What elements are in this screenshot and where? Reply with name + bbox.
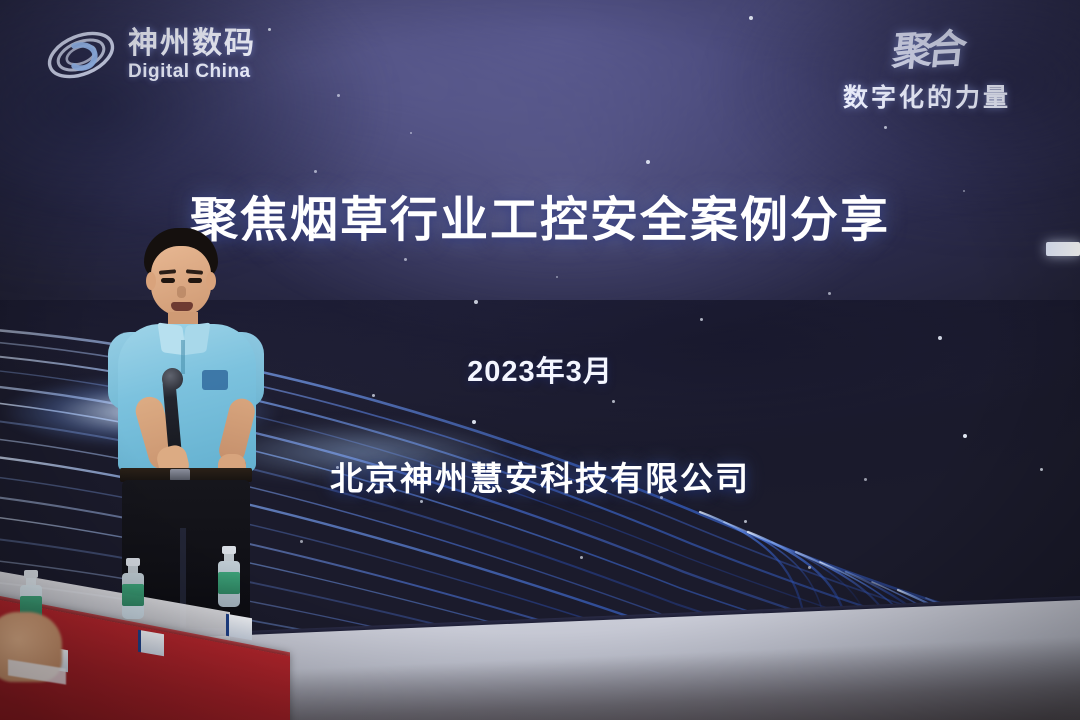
name-card (226, 614, 252, 641)
bottle-neck (26, 578, 36, 585)
bottle-neck (128, 566, 138, 573)
bottle-cap (24, 570, 38, 578)
speaker-nose (177, 286, 186, 298)
speaker-mouth (171, 302, 193, 311)
bottle-label (218, 572, 240, 594)
bottle-neck (224, 554, 234, 561)
bottle-cap (222, 546, 236, 554)
brand-name-cn: 神州数码 (128, 29, 256, 59)
speaker-chest-logo-icon (202, 370, 228, 390)
screen-edge-light (1046, 242, 1080, 256)
event-logo: 聚合 数字化的力量 (802, 18, 1052, 114)
bottle-body (122, 573, 144, 619)
speaker-ear-left (146, 272, 156, 290)
speaker-shirt-placket (181, 340, 185, 374)
bottle-body (218, 561, 240, 607)
brand-name-en: Digital China (128, 62, 256, 81)
bottle-cap (126, 558, 140, 566)
brand-logo: 神州数码 Digital China (44, 18, 314, 92)
bottle-label (122, 584, 144, 606)
event-logo-mark: 聚合 (890, 16, 965, 77)
name-card (138, 630, 164, 657)
water-bottle (122, 558, 144, 619)
event-logo-tagline: 数字化的力量 (843, 78, 1011, 114)
digital-china-swirl-icon (44, 24, 118, 86)
speaker-eye-left (161, 278, 175, 283)
speaker-eye-right (188, 278, 202, 283)
conference-stage-photo: 神州数码 Digital China 聚合 数字化的力量 聚焦烟草行业工控安全案… (0, 0, 1080, 720)
speaker-figure (96, 228, 286, 603)
water-bottle (218, 546, 240, 607)
speaker-ear-right (206, 272, 216, 290)
